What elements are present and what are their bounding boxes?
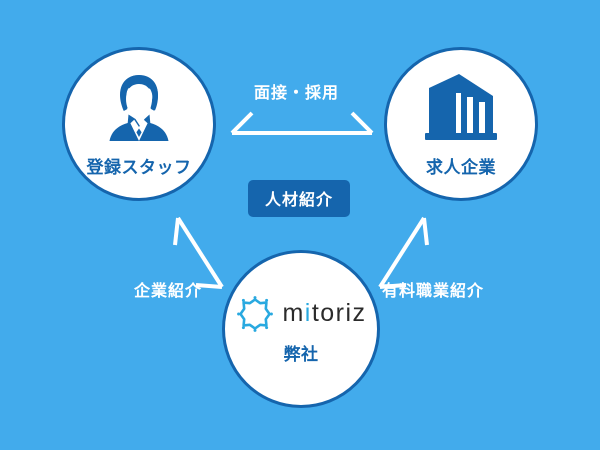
node-mitoriz[interactable]: mitoriz 弊社: [222, 250, 380, 408]
edge-label-intro-company: 企業紹介: [134, 277, 202, 301]
badge-placement: 人材紹介: [248, 180, 350, 217]
mitoriz-logo: mitoriz: [235, 294, 366, 334]
node-label-hiring-company: 求人企業: [426, 153, 496, 178]
mitoriz-star-logo-icon: [235, 294, 275, 334]
edge-label-interview: 面接・採用: [254, 79, 339, 103]
node-label-mitoriz: 弊社: [284, 340, 319, 365]
node-hiring-company[interactable]: 求人企業: [384, 47, 538, 201]
edge-label-paid-placement: 有料職業紹介: [382, 277, 484, 301]
office-building-icon: [421, 70, 501, 146]
node-registered-staff[interactable]: 登録スタッフ: [62, 47, 216, 201]
person-business-woman-icon: [101, 70, 177, 146]
arrow-interview: [232, 113, 372, 133]
node-label-registered-staff: 登録スタッフ: [87, 153, 192, 178]
mitoriz-wordmark: mitoriz: [282, 301, 366, 326]
diagram-canvas: 登録スタッフ 求人企業: [0, 0, 600, 450]
